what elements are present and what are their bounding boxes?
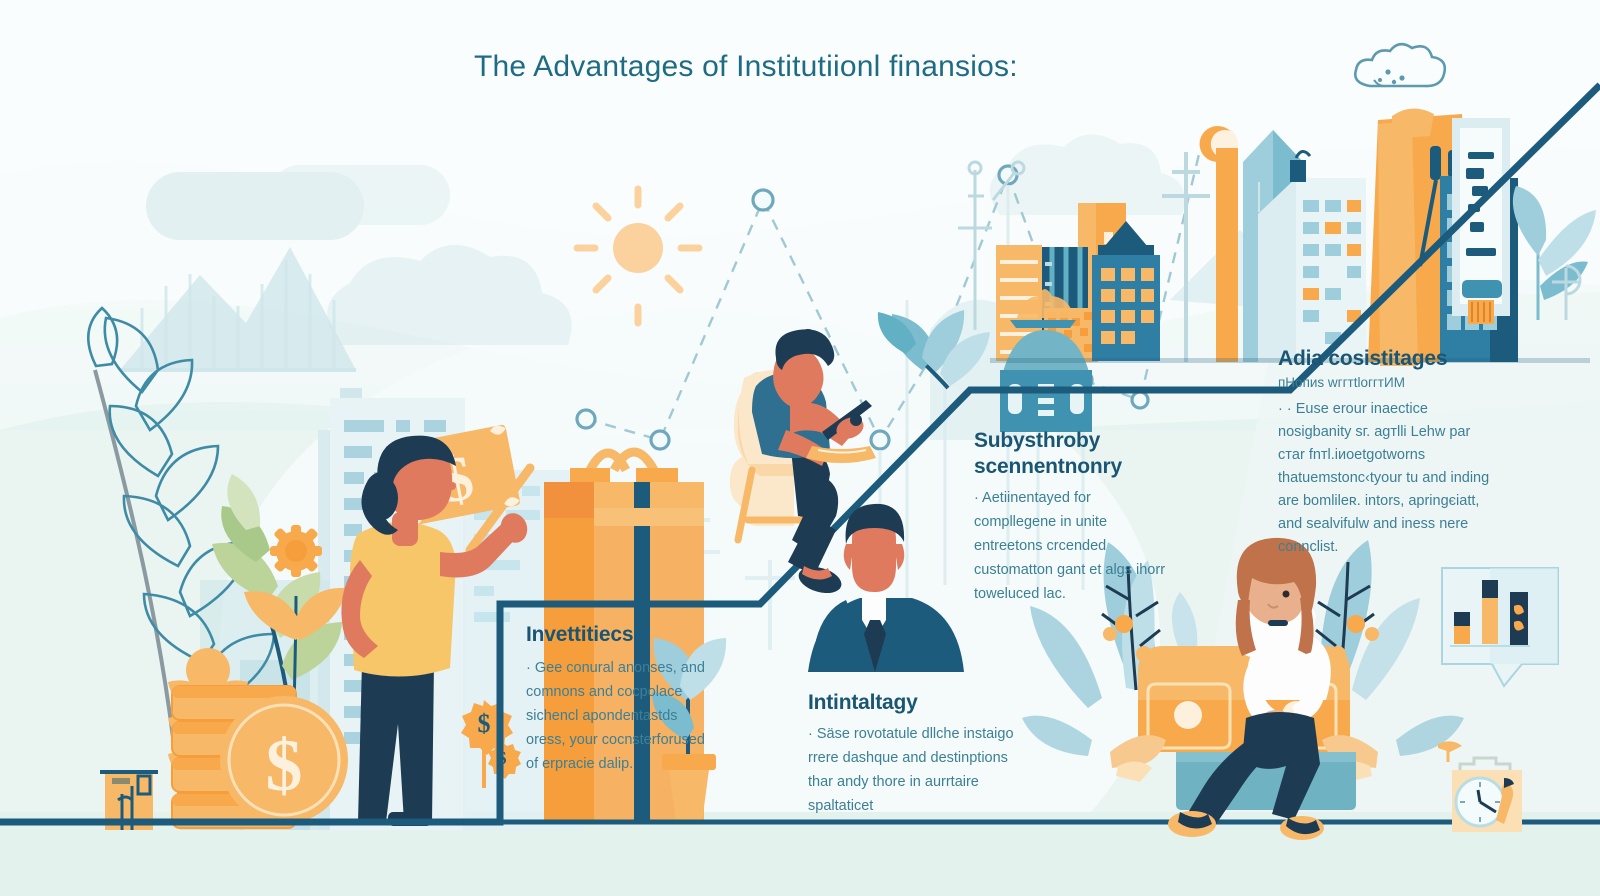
- page-title: The Advantages of Institutiionl finansio…: [474, 50, 1018, 84]
- dollar-glyph: $: [266, 725, 303, 807]
- block-body: · Aеtiinentayed for compllegene in unite…: [974, 486, 1174, 606]
- block-heading: Intintaltagy: [808, 690, 1023, 716]
- block-body: · · Euse erour inaectice nosigbanity sг.…: [1278, 398, 1493, 559]
- text-block-subsystroby: Subysthroby scennentnonry · Aеtiinentaye…: [974, 428, 1174, 606]
- block-subheading: пHoпиs wггтtloггтИM: [1278, 372, 1493, 394]
- infographic-canvas: $ $ $ $: [0, 0, 1600, 896]
- block-body: · Gee conural anonses, and comnons and c…: [526, 656, 716, 776]
- block-body: · Säse rovotatule dllche instaigo rrere …: [808, 722, 1023, 818]
- text-block-investities: Invettitiecs · Gee conural anonses, and …: [526, 622, 716, 776]
- block-heading: Invettitiecs: [526, 622, 716, 648]
- block-heading: Adia cosistitages: [1278, 346, 1493, 372]
- svg-text:$: $: [478, 709, 491, 738]
- text-block-intintaltagy: Intintaltagy · Säse rovotatule dllche in…: [808, 690, 1023, 818]
- text-block-adia: Adia cosistitages пHoпиs wггтtloггтИM · …: [1278, 346, 1493, 559]
- building-thin-tower: [1216, 148, 1238, 362]
- block-heading: Subysthroby scennentnonry: [974, 428, 1174, 480]
